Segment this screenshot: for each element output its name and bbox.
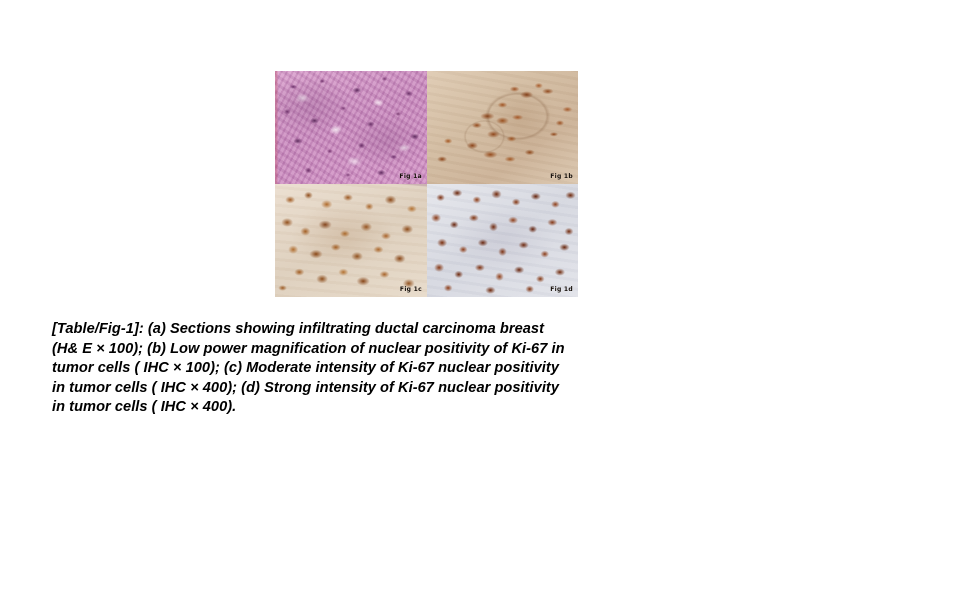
caption-line-4: in tumor cells ( IHC × 400); (d) Strong … <box>52 379 812 399</box>
caption-line-3: tumor cells ( IHC × 100); (c) Moderate i… <box>52 359 812 379</box>
micrograph-panel-c: Fig 1c <box>275 184 427 297</box>
panel-label-d: Fig 1d <box>550 287 573 293</box>
caption-line-1: [Table/Fig-1]: (a) Sections showing infi… <box>52 320 812 340</box>
micrograph-panel-d: Fig 1d <box>427 184 578 297</box>
caption-line-5: in tumor cells ( IHC × 400). <box>52 398 812 418</box>
figure-composite: Fig 1a Fig 1b Fig 1c Fig 1d <box>275 71 578 297</box>
micrograph-panel-b: Fig 1b <box>427 71 578 184</box>
panel-grid: Fig 1a Fig 1b Fig 1c Fig 1d <box>275 71 578 297</box>
panel-label-a: Fig 1a <box>399 174 422 180</box>
caption-line-2: (H& E × 100); (b) Low power magnificatio… <box>52 340 812 360</box>
panel-label-b: Fig 1b <box>550 174 573 180</box>
panel-label-c: Fig 1c <box>400 287 422 293</box>
micrograph-panel-a: Fig 1a <box>275 71 427 184</box>
figure-caption: [Table/Fig-1]: (a) Sections showing infi… <box>52 320 812 418</box>
